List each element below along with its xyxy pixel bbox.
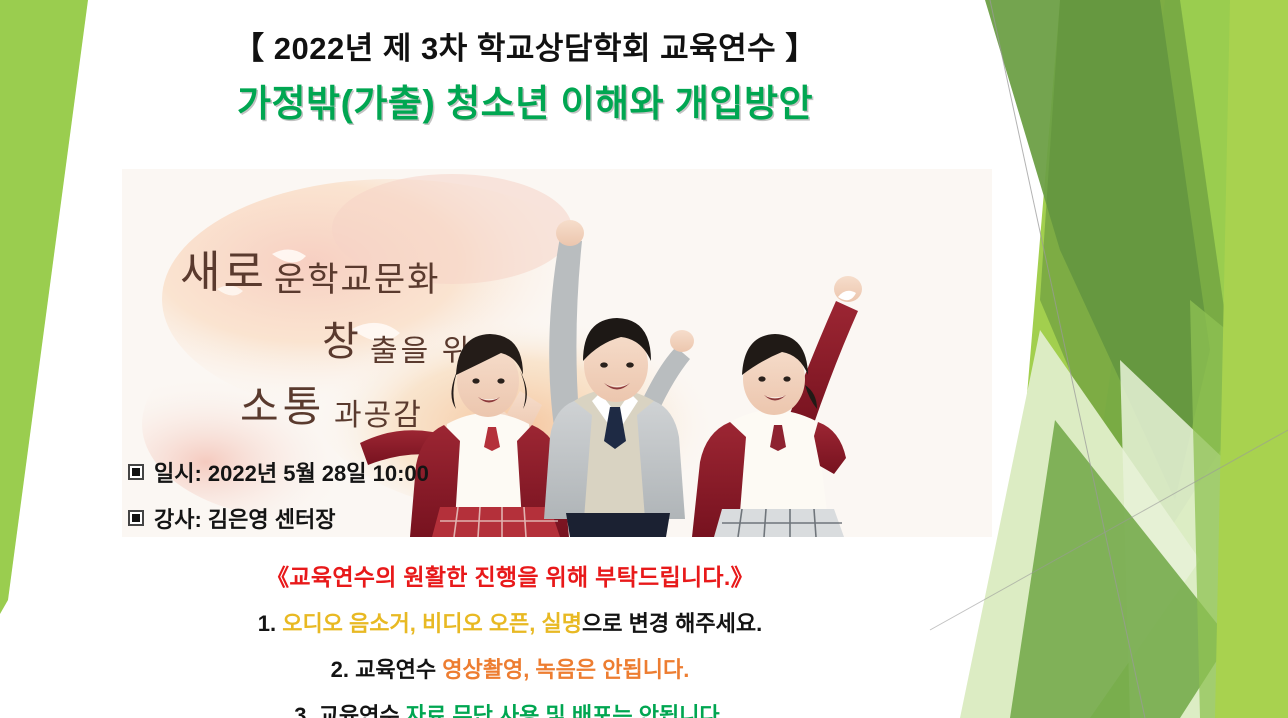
- notice-item-3: 3. 교육연수 자료 무단 사용 및 배포는 안됩니다.: [0, 698, 1020, 718]
- svg-text:운학교문화: 운학교문화: [274, 262, 440, 299]
- deco-right-vivid-edge: [1215, 0, 1288, 718]
- notice-item-1: 1. 오디오 음소거, 비디오 오픈, 실명으로 변경 해주세요.: [0, 606, 1020, 638]
- notice-item-2: 2. 교육연수 영상촬영, 녹음은 안됩니다.: [0, 652, 1020, 684]
- notice-block: 《교육연수의 원활한 진행을 위해 부탁드립니다.》 1. 오디오 음소거, 비…: [0, 558, 1020, 718]
- seminar-kicker: 【 2022년 제 3차 학교상담학회 교육연수 】: [0, 30, 1050, 69]
- notice-2-lead: 교육연수: [355, 657, 442, 682]
- notice-heading: 《교육연수의 원활한 진행을 위해 부탁드립니다.》: [0, 558, 1020, 592]
- notice-1-highlight: 오디오 음소거, 비디오 오픈, 실명: [282, 611, 582, 636]
- presentation-slide: 【 2022년 제 3차 학교상담학회 교육연수 】 가정밖(가출) 청소년 이…: [0, 0, 1288, 718]
- notice-1-rest: 으로 변경 해주세요.: [582, 611, 762, 636]
- deco-right-mid-1: [1010, 420, 1230, 718]
- deco-right-mid-2: [1190, 300, 1288, 718]
- deco-right-deep-wedge: [1040, 0, 1240, 560]
- notice-1-number: 1.: [258, 611, 276, 636]
- svg-text:창: 창: [322, 319, 363, 364]
- notice-3-highlight: 자료 무단 사용 및 배포는 안됩니다.: [406, 703, 726, 718]
- square-bullet-icon: [128, 510, 144, 526]
- svg-text:새로: 새로: [180, 248, 267, 297]
- info-row-datetime: 일시: 2022년 5월 28일 10:00: [128, 456, 429, 488]
- svg-text:소통: 소통: [240, 385, 325, 431]
- deco-right-bright: [1060, 0, 1288, 718]
- notice-3-lead: 교육연수: [319, 703, 406, 718]
- svg-text:과공감: 과공감: [334, 399, 423, 432]
- info-instructor-text: 강사: 김은영 센터장: [154, 502, 335, 534]
- deco-right-light-2: [1120, 360, 1288, 718]
- info-datetime-text: 일시: 2022년 5월 28일 10:00: [154, 456, 429, 488]
- title-block: 【 2022년 제 3차 학교상담학회 교육연수 】 가정밖(가출) 청소년 이…: [0, 30, 1050, 127]
- notice-2-highlight: 영상촬영, 녹음은 안됩니다.: [442, 657, 689, 682]
- square-bullet-icon: [128, 464, 144, 480]
- page-title: 가정밖(가출) 청소년 이해와 개입방안: [0, 81, 1050, 127]
- notice-3-number: 3.: [294, 703, 312, 718]
- notice-2-number: 2.: [331, 657, 349, 682]
- info-row-instructor: 강사: 김은영 센터장: [128, 502, 429, 534]
- seminar-info-list: 일시: 2022년 5월 28일 10:00 강사: 김은영 센터장: [128, 456, 429, 534]
